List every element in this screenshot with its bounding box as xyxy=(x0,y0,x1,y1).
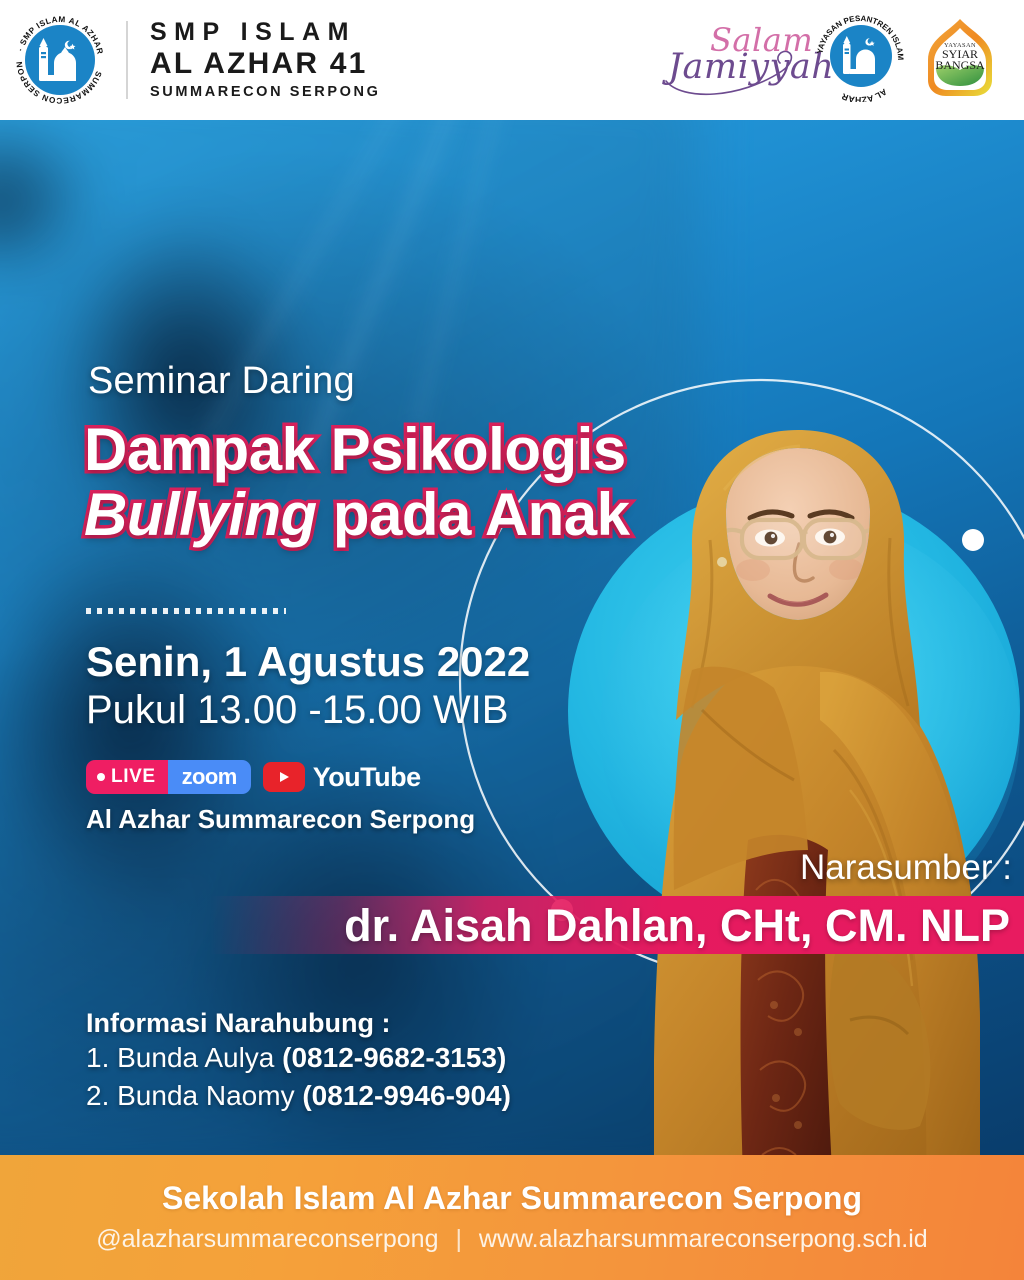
title-line-2: Bullying pada Anak xyxy=(84,483,704,548)
youtube-play-icon xyxy=(263,762,305,792)
seminar-poster: · SMP ISLAM AL AZHAR 41 · SUMMARECON SER… xyxy=(0,0,1024,1280)
yayasan-syiar-bangsa-logo-icon: YAYASAN SYIAR BANGSA xyxy=(918,14,1002,102)
contact-row-2: 2. Bunda Naomy (0812-9946-904) xyxy=(86,1080,511,1112)
school-identity: · SMP ISLAM AL AZHAR 41 · SUMMARECON SER… xyxy=(14,14,380,106)
title-line-1: Dampak Psikologis xyxy=(84,418,704,483)
header-divider xyxy=(126,21,128,99)
footer-website[interactable]: www.alazharsummareconserpong.sch.id xyxy=(479,1225,928,1253)
salam-word2: Jamiyyah xyxy=(668,47,834,87)
school-name-line2: AL AZHAR 41 xyxy=(150,49,380,79)
speaker-name: dr. Aisah Dahlan, CHt, CM. NLP xyxy=(344,900,1010,952)
title-line-2-rest: pada Anak xyxy=(317,481,630,548)
salam-jamiyyah-logo-icon: Salam Jamiyyah xyxy=(662,15,802,101)
contact-row-1: 1. Bunda Aulya (0812-9682-3153) xyxy=(86,1042,506,1074)
contact-title: Informasi Narahubung : xyxy=(86,1008,391,1039)
footer-separator: | xyxy=(445,1225,472,1253)
mosque-silhouette-icon xyxy=(25,25,95,95)
channel-name: Al Azhar Summarecon Serpong xyxy=(86,804,475,835)
platform-badges: LIVE zoom YouTube xyxy=(86,760,421,794)
svg-text:AL AZHAR: AL AZHAR xyxy=(840,87,889,102)
ypi-mosque-icon xyxy=(830,25,892,87)
contact-2-phone: (0812-9946-904) xyxy=(302,1080,511,1111)
footer-org-name: Sekolah Islam Al Azhar Summarecon Serpon… xyxy=(0,1180,1024,1217)
title-italic-word: Bullying xyxy=(84,481,317,548)
event-date: Senin, 1 Agustus 2022 xyxy=(86,638,530,686)
school-name-line3: SUMMARECON SERPONG xyxy=(150,85,380,100)
svg-text:BANGSA: BANGSA xyxy=(935,58,985,72)
poster-header: · SMP ISLAM AL AZHAR 41 · SUMMARECON SER… xyxy=(0,0,1024,120)
footer-contact-line: @alazharsummareconserpong | www.alazhars… xyxy=(0,1225,1024,1254)
youtube-badge[interactable]: YouTube xyxy=(263,762,421,793)
footer-social-handle[interactable]: @alazharsummareconserpong xyxy=(96,1225,438,1253)
contact-2-name: 2. Bunda Naomy xyxy=(86,1080,302,1111)
poster-content: Seminar Daring Dampak Psikologis Bullyin… xyxy=(0,120,1024,1155)
youtube-label: YouTube xyxy=(313,762,421,793)
syiar-shield: YAYASAN SYIAR BANGSA xyxy=(918,14,1002,102)
poster-footer: Sekolah Islam Al Azhar Summarecon Serpon… xyxy=(0,1155,1024,1280)
al-azhar-mosque-emblem-icon: · SMP ISLAM AL AZHAR 41 · SUMMARECON SER… xyxy=(14,14,106,106)
event-time: Pukul 13.00 -15.00 WIB xyxy=(86,688,508,733)
contact-1-name: 1. Bunda Aulya xyxy=(86,1042,282,1073)
play-triangle-icon xyxy=(276,769,292,785)
school-name-line1: SMP ISLAM xyxy=(150,20,380,45)
live-zoom-pill[interactable]: LIVE zoom xyxy=(86,760,251,794)
live-badge[interactable]: LIVE xyxy=(86,760,168,794)
live-dot-icon xyxy=(97,773,105,781)
zoom-badge[interactable]: zoom xyxy=(168,760,251,794)
speaker-label: Narasumber : xyxy=(800,848,1012,888)
poster-body: Seminar Daring Dampak Psikologis Bullyin… xyxy=(0,120,1024,1155)
contact-1-phone: (0812-9682-3153) xyxy=(282,1042,506,1073)
seminar-kicker: Seminar Daring xyxy=(88,360,355,403)
seminar-title: Dampak Psikologis Bullying pada Anak xyxy=(84,418,704,548)
yayasan-pesantren-islam-al-azhar-logo-icon: YAYASAN PESANTREN ISLAM AL AZHAR xyxy=(816,14,904,102)
partner-logos: Salam Jamiyyah YAYASAN PESANTREN ISLAM A… xyxy=(662,14,1002,102)
dotted-divider xyxy=(86,608,286,614)
live-label: LIVE xyxy=(111,766,156,788)
school-name-block: SMP ISLAM AL AZHAR 41 SUMMARECON SERPONG xyxy=(150,20,380,100)
